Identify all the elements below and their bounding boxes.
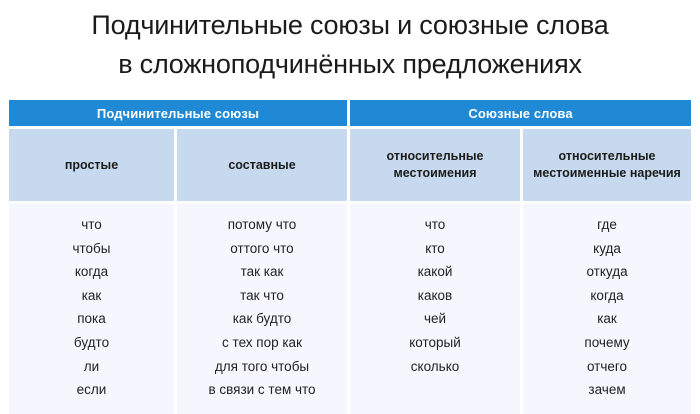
- column-cell-relative-pronominal-adverbs: гдекудаоткудакогдакакпочемуотчегозачем: [523, 204, 691, 414]
- word-list-relative-pronominal-adverbs: гдекудаоткудакогдакакпочемуотчегозачем: [527, 213, 687, 402]
- column-cell-compound: потому чтооттого чтотак кактак чтокак бу…: [177, 204, 350, 414]
- word-item: для того чтобы: [181, 355, 343, 379]
- title-line-2: в сложноподчинённых предложениях: [20, 45, 680, 84]
- word-item: кто: [354, 237, 516, 261]
- word-item: потому что: [181, 213, 343, 237]
- word-item: с тех пор как: [181, 331, 343, 355]
- grammar-table: Подчинительные союзы Союзные слова прост…: [9, 100, 691, 414]
- word-item: будто: [13, 331, 170, 355]
- word-item: так что: [181, 284, 343, 308]
- subheader-row: простые составные относительные местоиме…: [9, 129, 691, 204]
- table-body: чточтобыкогдакакпокабудтолиесли потому ч…: [9, 204, 691, 414]
- word-item: который: [354, 331, 516, 355]
- word-item: почему: [527, 331, 687, 355]
- subheader-compound: составные: [177, 129, 350, 204]
- word-item: как: [527, 307, 687, 331]
- column-cell-simple: чточтобыкогдакакпокабудтолиесли: [9, 204, 177, 414]
- word-item: чтобы: [13, 237, 170, 261]
- word-item: так как: [181, 260, 343, 284]
- word-item: зачем: [527, 378, 687, 402]
- word-item: когда: [13, 260, 170, 284]
- word-list-simple: чточтобыкогдакакпокабудтолиесли: [13, 213, 170, 402]
- word-item: когда: [527, 284, 687, 308]
- word-lists-row: чточтобыкогдакакпокабудтолиесли потому ч…: [9, 204, 691, 414]
- subheader-simple: простые: [9, 129, 177, 204]
- subheader-relative-pronouns: относительные местоимения: [350, 129, 523, 204]
- word-item: в связи с тем что: [181, 378, 343, 402]
- word-item: чей: [354, 307, 516, 331]
- group-header-conjunctive-words: Союзные слова: [350, 100, 691, 129]
- word-item: пока: [13, 307, 170, 331]
- word-item: откуда: [527, 260, 687, 284]
- word-item: как будто: [181, 307, 343, 331]
- word-list-relative-pronouns: чтоктокакойкаковчейкоторыйсколько: [354, 213, 516, 378]
- word-item: ли: [13, 355, 170, 379]
- word-item: где: [527, 213, 687, 237]
- word-item: если: [13, 378, 170, 402]
- word-item: что: [13, 213, 170, 237]
- group-header-row: Подчинительные союзы Союзные слова: [9, 100, 691, 129]
- column-cell-relative-pronouns: чтоктокакойкаковчейкоторыйсколько: [350, 204, 523, 414]
- word-item: какой: [354, 260, 516, 284]
- group-header-subordinating-conjunctions: Подчинительные союзы: [9, 100, 350, 129]
- word-item: как: [13, 284, 170, 308]
- word-item: сколько: [354, 355, 516, 379]
- word-item: отчего: [527, 355, 687, 379]
- word-item: каков: [354, 284, 516, 308]
- table-head: Подчинительные союзы Союзные слова прост…: [9, 100, 691, 204]
- grammar-table-wrapper: Подчинительные союзы Союзные слова прост…: [9, 100, 691, 414]
- poster-root: Подчинительные союзы и союзные слова в с…: [0, 0, 700, 408]
- subheader-relative-pronominal-adverbs: относительные местоименные наречия: [523, 129, 691, 204]
- title-line-1: Подчинительные союзы и союзные слова: [20, 6, 680, 45]
- word-list-compound: потому чтооттого чтотак кактак чтокак бу…: [181, 213, 343, 402]
- page-title: Подчинительные союзы и союзные слова в с…: [0, 0, 700, 84]
- word-item: что: [354, 213, 516, 237]
- word-item: оттого что: [181, 237, 343, 261]
- word-item: куда: [527, 237, 687, 261]
